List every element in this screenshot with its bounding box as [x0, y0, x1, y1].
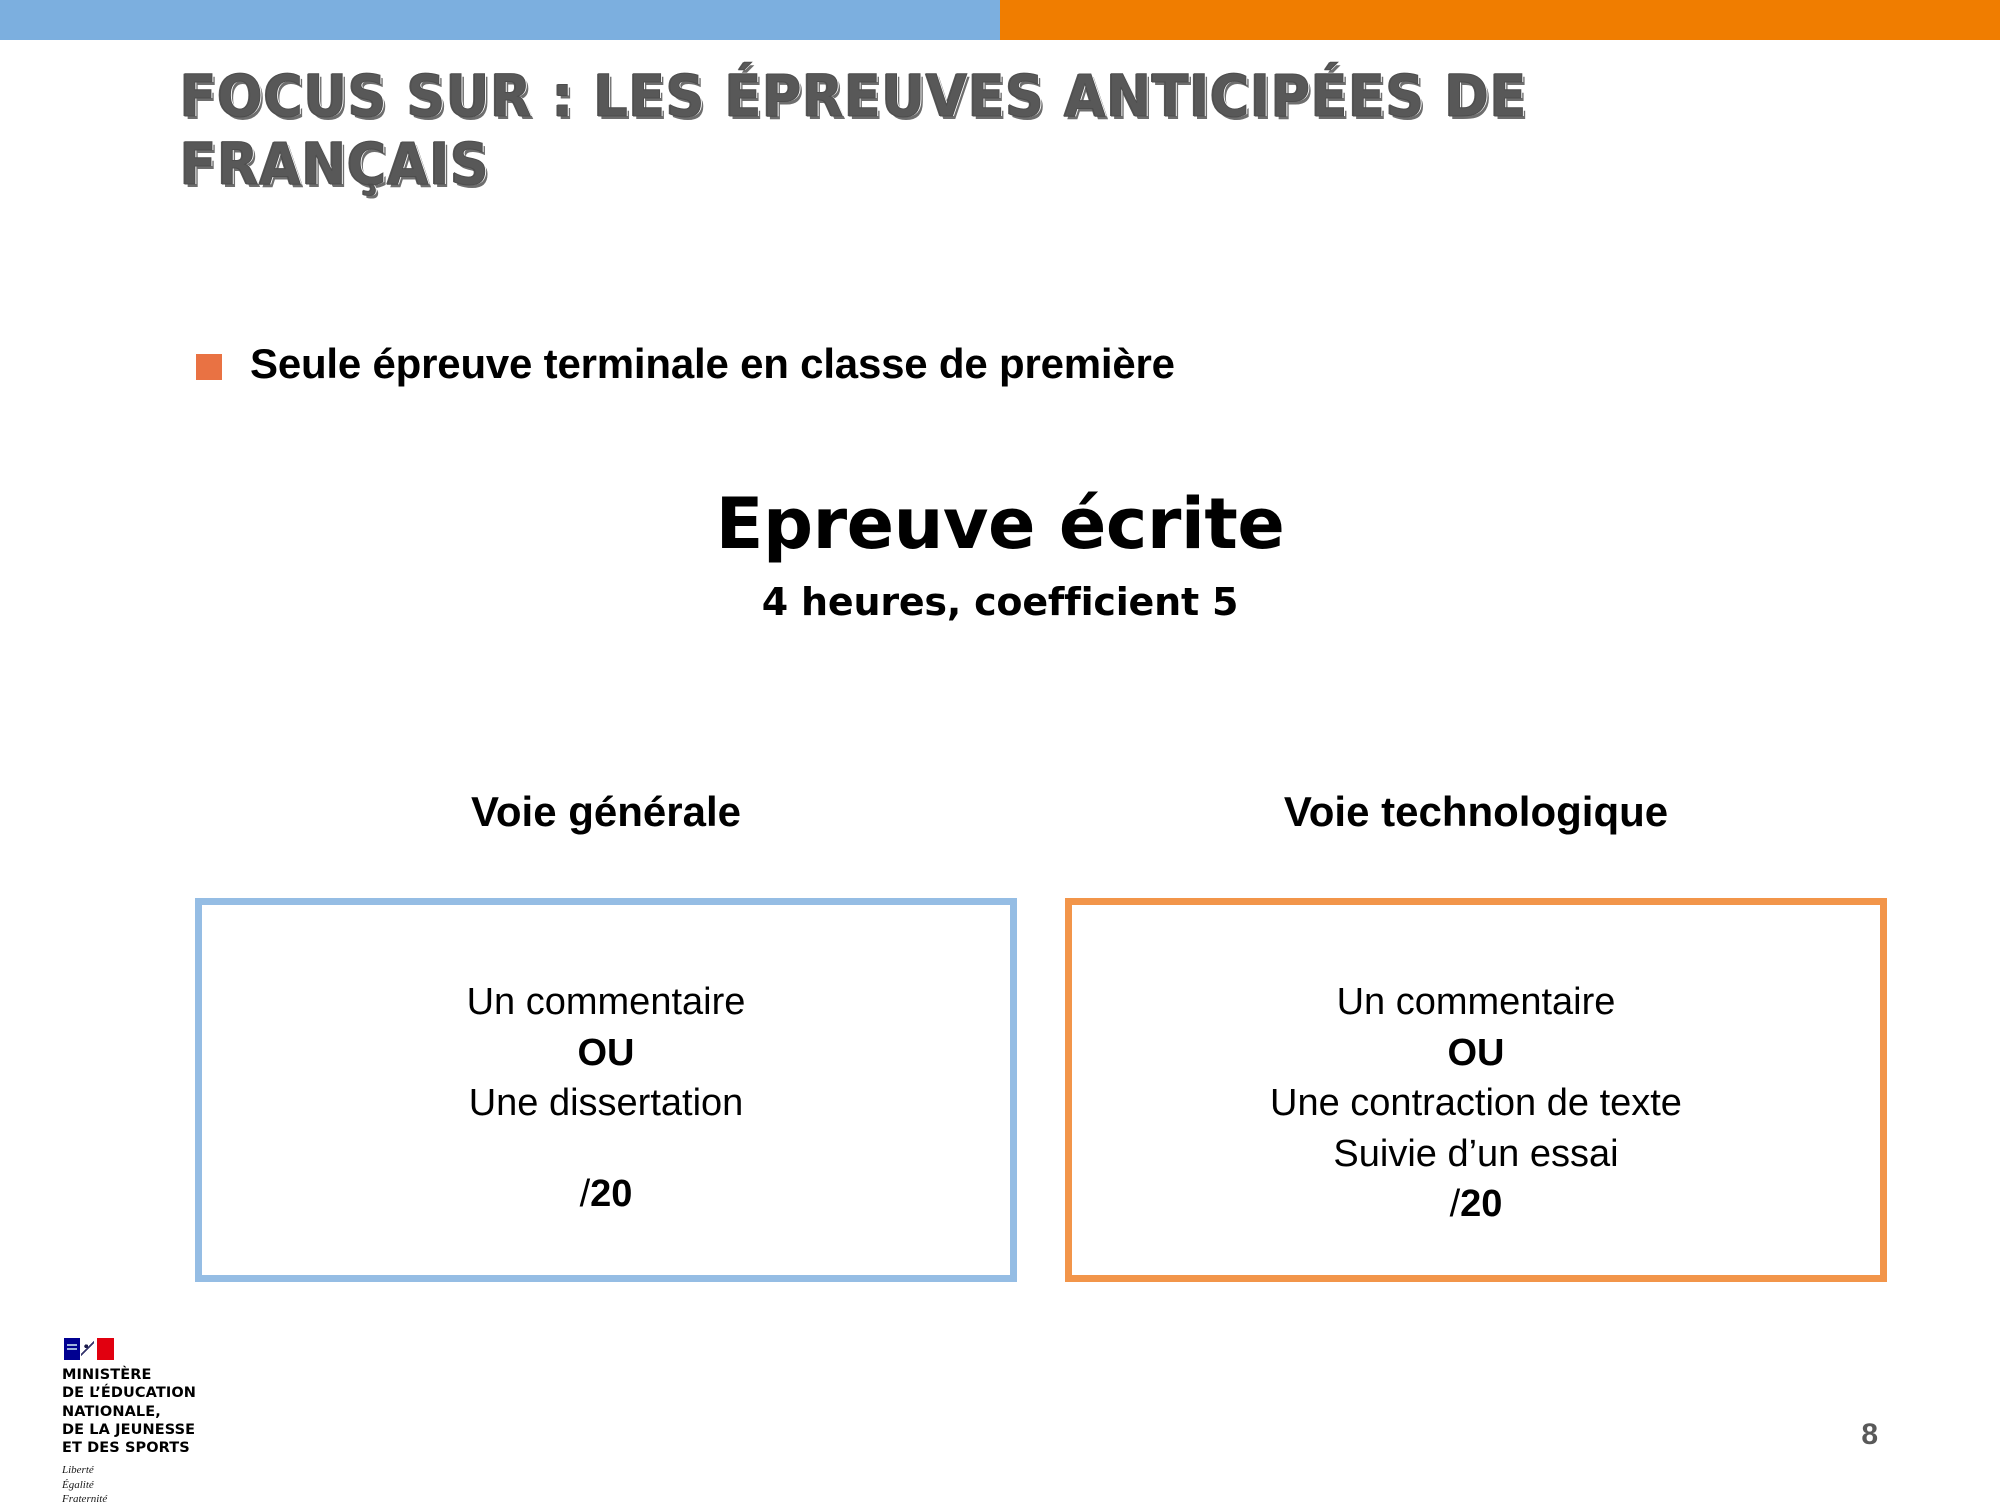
ministry-motto: Liberté Égalité Fraternité	[62, 1463, 292, 1507]
score-prefix: /	[580, 1173, 591, 1215]
pathway-box-voie-generale: Un commentaire OU Une dissertation /20	[195, 898, 1017, 1282]
motto-line: Égalité	[62, 1478, 292, 1493]
ministry-name-line: DE L’ÉDUCATION	[62, 1384, 292, 1402]
exam-heading-block: Epreuve écrite 4 heures, coefficient 5	[0, 488, 2000, 624]
score-value: 20	[1460, 1183, 1502, 1225]
pathway-box-voie-technologique: Un commentaire OU Une contraction de tex…	[1065, 898, 1887, 1282]
page-number: 8	[1861, 1418, 1878, 1452]
motto-line: Liberté	[62, 1463, 292, 1478]
pathway-line-or: OU	[202, 1028, 1010, 1079]
ministry-logo: MINISTÈRE DE L’ÉDUCATION NATIONALE, DE L…	[62, 1338, 292, 1507]
pathway-line: Un commentaire	[1072, 977, 1880, 1028]
ministry-name-line: NATIONALE,	[62, 1403, 292, 1421]
pathway-score: /20	[202, 1169, 1010, 1220]
flag-white-band	[80, 1338, 97, 1360]
pathway-spacer	[202, 1129, 1010, 1169]
score-prefix: /	[1450, 1183, 1461, 1225]
pathway-box-body: Un commentaire OU Une dissertation /20	[202, 977, 1010, 1219]
top-decorative-bar	[0, 0, 2000, 40]
pathway-line: Une dissertation	[202, 1078, 1010, 1129]
french-flag-marianne-icon	[64, 1338, 114, 1360]
column-header-voie-generale: Voie générale	[195, 788, 1017, 836]
flag-red-band	[97, 1338, 114, 1360]
ministry-name: MINISTÈRE DE L’ÉDUCATION NATIONALE, DE L…	[62, 1366, 292, 1457]
column-header-voie-technologique: Voie technologique	[1065, 788, 1887, 836]
pathway-box-body: Un commentaire OU Une contraction de tex…	[1072, 977, 1880, 1230]
top-bar-blue-segment	[0, 0, 1000, 40]
flag-blue-band	[64, 1338, 80, 1360]
bullet-text: Seule épreuve terminale en classe de pre…	[250, 340, 1175, 388]
ministry-name-line: MINISTÈRE	[62, 1366, 292, 1384]
score-value: 20	[590, 1173, 632, 1215]
ministry-name-line: ET DES SPORTS	[62, 1439, 292, 1457]
pathway-line-or: OU	[1072, 1028, 1880, 1079]
pathway-line: Suivie d’un essai	[1072, 1129, 1880, 1180]
pathway-line: Un commentaire	[202, 977, 1010, 1028]
slide-title: FOCUS SUR : LES ÉPREUVES ANTICIPÉES DE F…	[180, 62, 1762, 199]
bullet-row: Seule épreuve terminale en classe de pre…	[196, 340, 1175, 388]
top-bar-orange-segment	[1000, 0, 2000, 40]
pathway-line: Une contraction de texte	[1072, 1078, 1880, 1129]
exam-subtitle: 4 heures, coefficient 5	[0, 580, 2000, 624]
pathway-score: /20	[1072, 1179, 1880, 1230]
exam-title: Epreuve écrite	[0, 488, 2000, 562]
square-bullet-icon	[196, 354, 222, 380]
ministry-name-line: DE LA JEUNESSE	[62, 1421, 292, 1439]
